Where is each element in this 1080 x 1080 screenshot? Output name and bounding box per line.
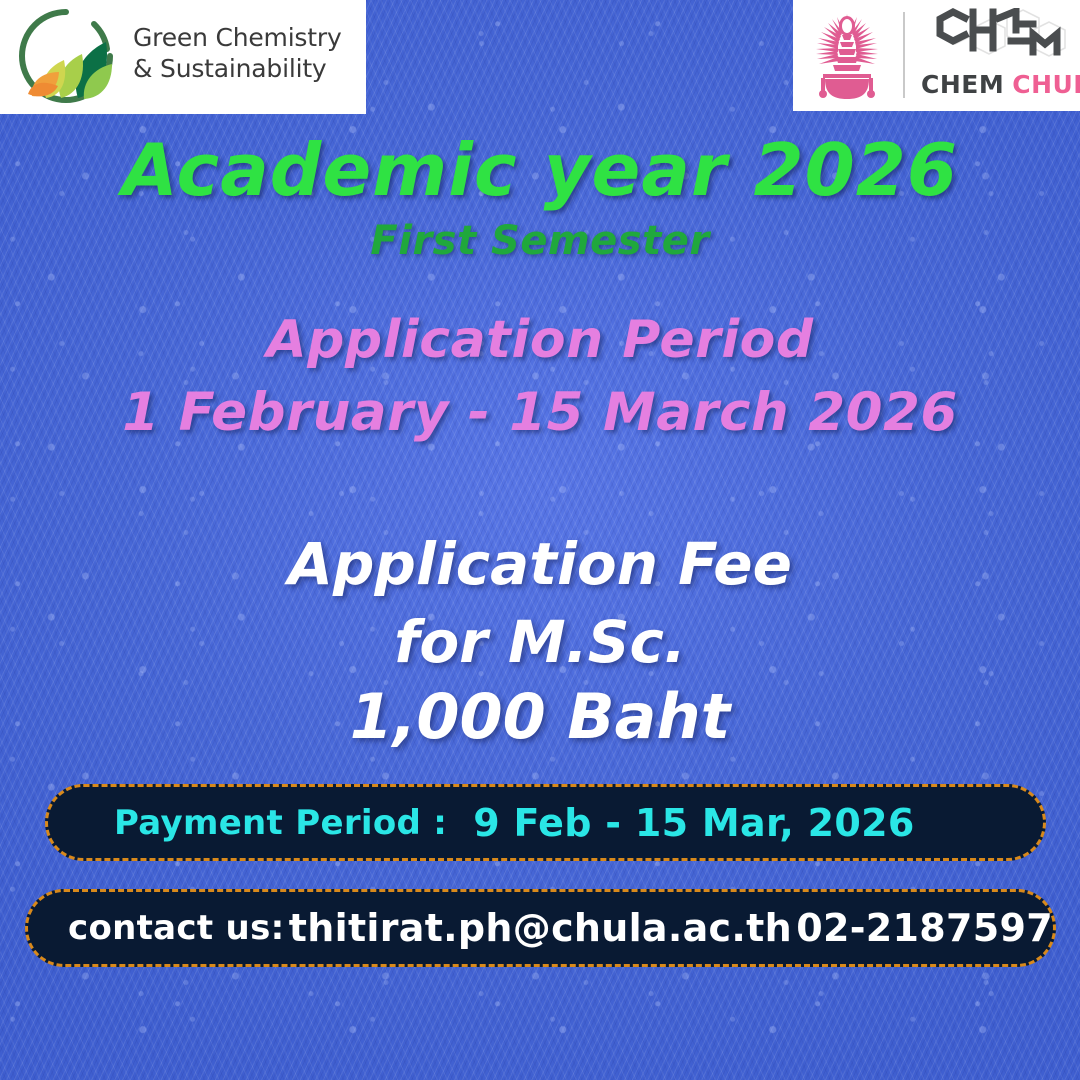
application-period-label: Application Period (0, 310, 1080, 370)
green-chemistry-logo-box: Green Chemistry & Sustainability (0, 0, 366, 114)
application-fee-amount: 1,000 Baht (0, 680, 1080, 753)
chem-chula-logo-box: CHEMCHULA (793, 0, 1080, 111)
application-fee-line-2: for M.Sc. (0, 608, 1080, 676)
payment-period-label: Payment Period : (114, 803, 447, 843)
application-period-dates: 1 February - 15 March 2026 (0, 382, 1080, 443)
application-fee-line-1: Application Fee (0, 530, 1080, 598)
logo-line-1: Green Chemistry (133, 22, 342, 53)
brand-primary-text: CHEM (921, 70, 1004, 99)
contact-label: contact us: (68, 908, 285, 948)
brand-secondary-text: CHULA (1012, 70, 1080, 99)
logo-line-2: & Sustainability (133, 53, 342, 84)
logo-divider (903, 12, 905, 98)
chem-hexagon-wordmark-icon (921, 8, 1073, 66)
academic-year-heading: Academic year 2026 (0, 128, 1080, 212)
leaf-circle-logo-icon (6, 2, 126, 114)
chula-phra-kiao-emblem-icon (811, 8, 883, 103)
poster-canvas: Green Chemistry & Sustainability (0, 0, 1080, 1080)
chem-chula-wordmark: CHEMCHULA (921, 70, 1073, 99)
semester-subheading: First Semester (0, 218, 1080, 264)
contact-phone[interactable]: 02-2187597 (796, 906, 1053, 950)
payment-period-pill: Payment Period : 9 Feb - 15 Mar, 2026 (45, 784, 1046, 861)
contact-email[interactable]: thitirat.ph@chula.ac.th (289, 906, 792, 950)
payment-period-value: 9 Feb - 15 Mar, 2026 (473, 801, 914, 845)
contact-pill: contact us: thitirat.ph@chula.ac.th 02-2… (25, 889, 1056, 967)
green-chemistry-wordmark: Green Chemistry & Sustainability (133, 22, 342, 84)
